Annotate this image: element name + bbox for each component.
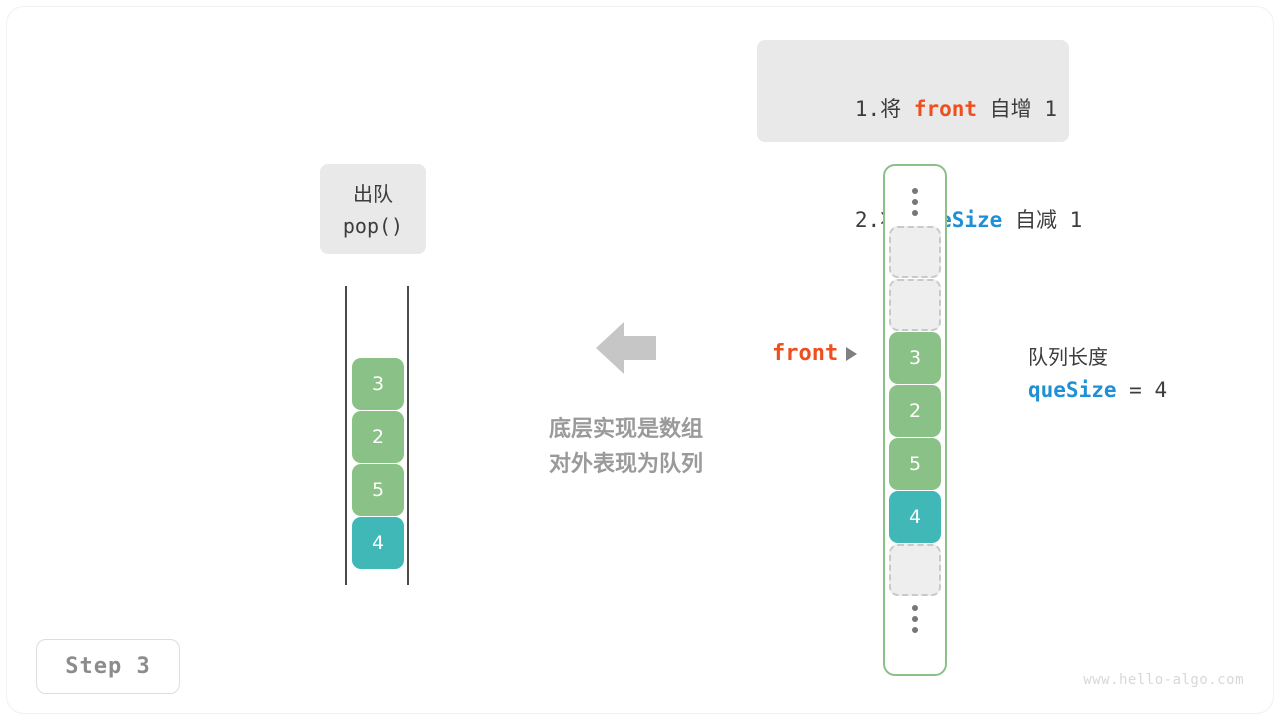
caret-right-icon (846, 347, 857, 361)
instruction-box: 1.将 front 自增 1 2.将 queSize 自减 1 (757, 40, 1069, 142)
instruction-line-1: 1.将 front 自增 1 (779, 54, 1047, 165)
queue-rail-left (345, 286, 347, 585)
center-caption: 底层实现是数组 对外表现为队列 (528, 412, 724, 482)
queue-rail-right (407, 286, 409, 585)
array-empty-cell (889, 279, 941, 331)
instruction-2-suffix: 自减 1 (1002, 208, 1082, 232)
queue-view-column: 3254 (345, 286, 409, 585)
quesize-note: 队列长度 queSize = 4 (1028, 342, 1167, 408)
quesize-variable: queSize (1028, 378, 1117, 402)
watermark: www.hello-algo.com (1083, 672, 1244, 688)
instruction-1-suffix: 自增 1 (977, 97, 1057, 121)
queue-cell: 4 (352, 517, 404, 569)
step-badge-label: Step 3 (65, 654, 150, 679)
pop-box-title: 出队 (320, 178, 426, 210)
left-arrow-icon (596, 320, 656, 376)
queue-cell: 2 (352, 411, 404, 463)
instruction-2-index: 2. (855, 208, 880, 232)
quesize-note-expression: queSize = 4 (1028, 372, 1167, 408)
instruction-1-token-front: front (914, 97, 977, 121)
array-cell: 5 (889, 438, 941, 490)
diagram-canvas: 1.将 front 自增 1 2.将 queSize 自减 1 出队 pop()… (0, 0, 1280, 720)
array-empty-cell (889, 544, 941, 596)
array-empty-cell (889, 226, 941, 278)
caption-line-1: 底层实现是数组 (528, 412, 724, 447)
ellipsis-bottom-icon (912, 605, 919, 633)
quesize-value-spacer (1142, 378, 1155, 402)
quesize-note-title: 队列长度 (1028, 342, 1167, 372)
array-cell: 3 (889, 332, 941, 384)
quesize-value: 4 (1154, 378, 1167, 402)
front-pointer-label: front (772, 341, 838, 366)
instruction-1-index: 1. (855, 97, 880, 121)
step-badge: Step 3 (36, 639, 180, 694)
ellipsis-top-icon (912, 188, 919, 216)
array-cell: 2 (889, 385, 941, 437)
queue-cell-list: 3254 (352, 358, 404, 570)
array-cell: 4 (889, 491, 941, 543)
array-cell-list: 3254 (889, 226, 941, 597)
array-view-column: 3254 (883, 164, 947, 676)
pop-box-method: pop() (320, 210, 426, 242)
instruction-1-prefix: 将 (880, 97, 914, 121)
queue-cell: 5 (352, 464, 404, 516)
front-pointer: front (772, 341, 857, 366)
quesize-operator: = (1129, 378, 1142, 402)
queue-cell: 3 (352, 358, 404, 410)
pop-operation-box: 出队 pop() (320, 164, 426, 254)
quesize-operator-spacer (1117, 378, 1130, 402)
caption-line-2: 对外表现为队列 (528, 447, 724, 482)
